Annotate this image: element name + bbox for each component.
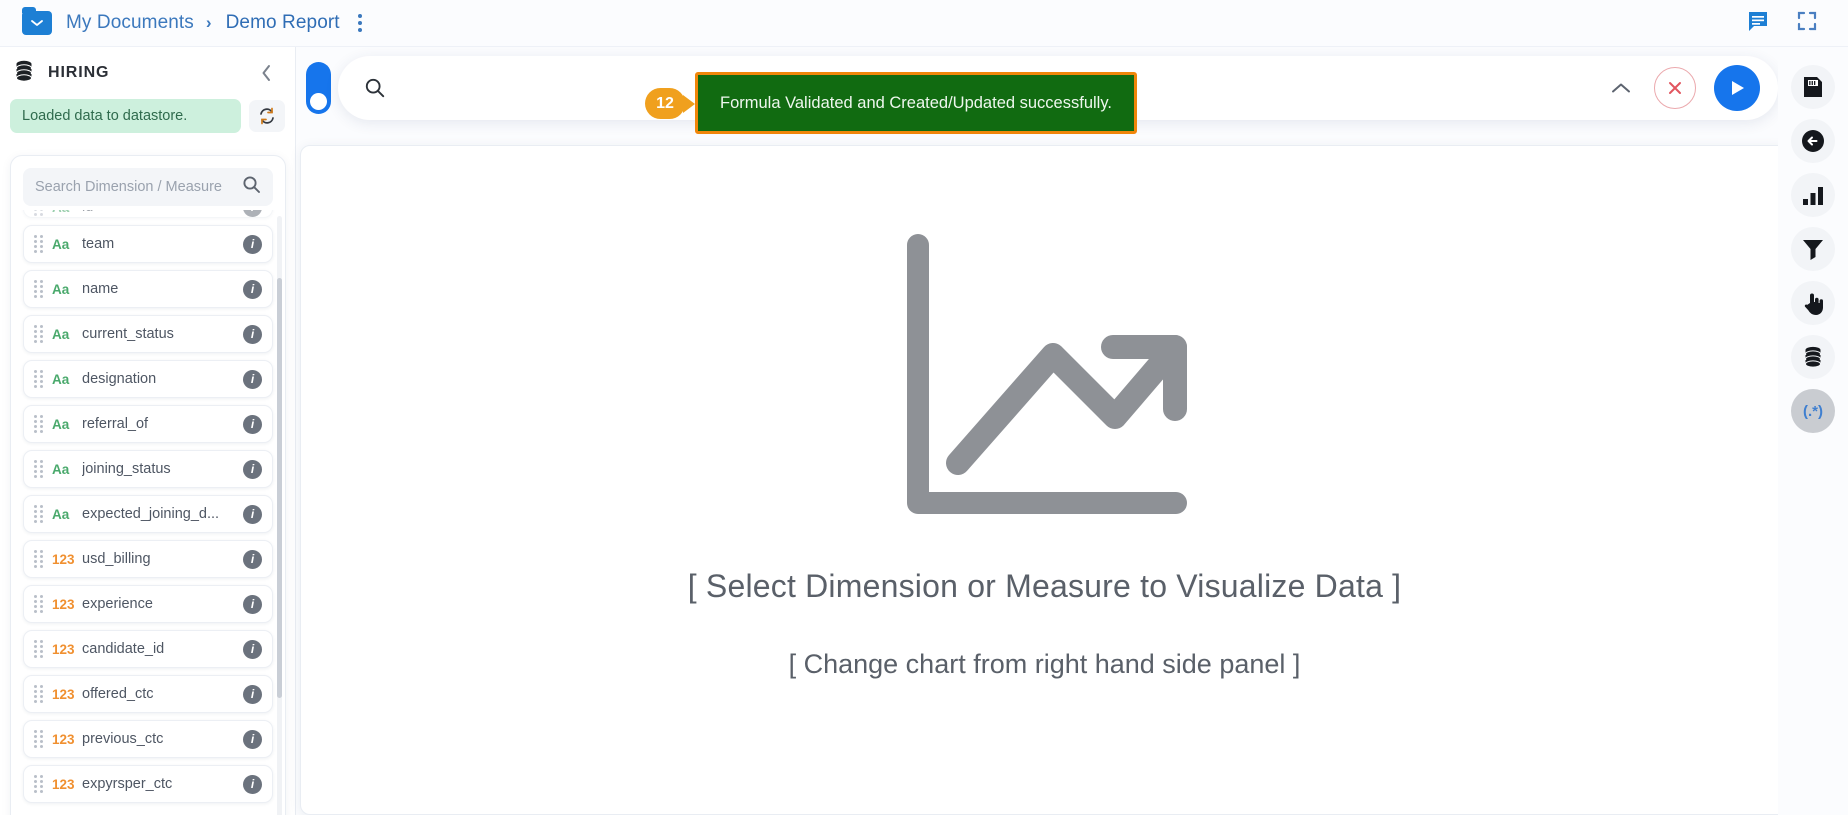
toast-notification: Formula Validated and Created/Updated su… xyxy=(695,72,1137,134)
datastore-status-text: Loaded data to datastore. xyxy=(10,99,241,133)
field-type-badge: 123 xyxy=(52,642,82,657)
field-item-designation[interactable]: Aadesignationi xyxy=(23,360,273,398)
regex-icon[interactable]: (.*) xyxy=(1791,389,1835,433)
datastore-title: HIRING xyxy=(48,64,109,82)
cancel-button[interactable] xyxy=(1654,67,1696,109)
top-header: My Documents › Demo Report xyxy=(0,0,1848,47)
drag-handle-icon[interactable] xyxy=(34,550,43,568)
empty-state-subtitle: [ Change chart from right hand side pane… xyxy=(789,649,1301,680)
info-icon[interactable]: i xyxy=(243,280,262,299)
field-label: previous_ctc xyxy=(82,731,243,747)
more-options-icon[interactable] xyxy=(352,10,368,36)
field-label: offered_ctc xyxy=(82,686,243,702)
info-icon[interactable]: i xyxy=(243,595,262,614)
field-label: designation xyxy=(82,371,243,387)
field-item-current_status[interactable]: Aacurrent_statusi xyxy=(23,315,273,353)
refresh-icon[interactable] xyxy=(249,100,285,132)
field-search-wrapper xyxy=(23,168,273,206)
field-type-badge: 123 xyxy=(52,552,82,567)
info-icon[interactable]: i xyxy=(243,550,262,569)
field-label: current_status xyxy=(82,326,243,342)
field-item-offered_ctc[interactable]: 123offered_ctci xyxy=(23,675,273,713)
filter-icon[interactable] xyxy=(1791,227,1835,271)
pointer-hand-icon[interactable] xyxy=(1791,281,1835,325)
datastore-header: HIRING xyxy=(0,47,295,99)
search-input[interactable] xyxy=(35,179,242,195)
field-type-badge: Aa xyxy=(52,372,82,387)
back-arrow-icon[interactable] xyxy=(1791,119,1835,163)
field-item-id[interactable]: Aaidi xyxy=(23,210,273,218)
folder-chevron-icon[interactable] xyxy=(22,11,52,35)
datastore-status-row: Loaded data to datastore. xyxy=(0,99,295,133)
visualization-canvas[interactable]: [ Select Dimension or Measure to Visuali… xyxy=(300,145,1789,815)
database-icon[interactable] xyxy=(1791,335,1835,379)
sidebar-collapse-button[interactable] xyxy=(252,59,281,87)
header-actions xyxy=(1746,9,1818,38)
comment-icon[interactable] xyxy=(1746,9,1770,38)
info-icon[interactable]: i xyxy=(243,460,262,479)
toast-message: Formula Validated and Created/Updated su… xyxy=(720,94,1112,113)
search-icon[interactable] xyxy=(242,175,261,199)
info-icon[interactable]: i xyxy=(243,685,262,704)
field-label: id xyxy=(82,210,243,215)
field-label: joining_status xyxy=(82,461,243,477)
field-list[interactable]: AaidiAateamiAanameiAacurrent_statusiAade… xyxy=(11,210,285,815)
field-type-badge: Aa xyxy=(52,282,82,297)
line-chart-icon xyxy=(900,231,1190,526)
bar-chart-icon[interactable] xyxy=(1791,173,1835,217)
drag-handle-icon[interactable] xyxy=(34,505,43,523)
drag-handle-icon[interactable] xyxy=(34,210,43,216)
field-label: team xyxy=(82,236,243,252)
empty-state-title: [ Select Dimension or Measure to Visuali… xyxy=(688,568,1402,605)
field-panel: AaidiAateamiAanameiAacurrent_statusiAade… xyxy=(10,155,286,815)
field-type-badge: 123 xyxy=(52,597,82,612)
breadcrumb-current[interactable]: Demo Report xyxy=(226,12,340,34)
field-type-badge: Aa xyxy=(52,237,82,252)
field-item-name[interactable]: Aanamei xyxy=(23,270,273,308)
field-type-badge: 123 xyxy=(52,732,82,747)
annotation-step-badge: 12 xyxy=(645,88,685,119)
chevron-up-icon[interactable] xyxy=(1600,75,1642,101)
field-type-badge: Aa xyxy=(52,210,82,215)
field-item-joining_status[interactable]: Aajoining_statusi xyxy=(23,450,273,488)
database-icon xyxy=(14,60,34,87)
field-item-previous_ctc[interactable]: 123previous_ctci xyxy=(23,720,273,758)
info-icon[interactable]: i xyxy=(243,415,262,434)
field-type-badge: Aa xyxy=(52,327,82,342)
field-label: referral_of xyxy=(82,416,243,432)
drag-handle-icon[interactable] xyxy=(34,775,43,793)
info-icon[interactable]: i xyxy=(243,370,262,389)
regex-label: (.*) xyxy=(1803,403,1823,420)
field-item-expected_joining_d[interactable]: Aaexpected_joining_d...i xyxy=(23,495,273,533)
info-icon[interactable]: i xyxy=(243,730,262,749)
fullscreen-icon[interactable] xyxy=(1796,10,1818,37)
right-toolbar: (.*) xyxy=(1778,47,1848,815)
field-type-badge: Aa xyxy=(52,462,82,477)
field-type-badge: 123 xyxy=(52,777,82,792)
field-item-team[interactable]: Aateami xyxy=(23,225,273,263)
formula-search-icon[interactable] xyxy=(364,77,386,99)
info-icon[interactable]: i xyxy=(243,235,262,254)
drag-handle-icon[interactable] xyxy=(34,730,43,748)
run-button[interactable] xyxy=(1714,65,1760,111)
field-label: name xyxy=(82,281,243,297)
drag-handle-icon[interactable] xyxy=(34,460,43,478)
info-icon[interactable]: i xyxy=(243,505,262,524)
field-label: expyrsper_ctc xyxy=(82,776,243,792)
drag-handle-icon[interactable] xyxy=(34,685,43,703)
drag-handle-icon[interactable] xyxy=(34,370,43,388)
field-label: usd_billing xyxy=(82,551,243,567)
field-item-expyrsper_ctc[interactable]: 123expyrsper_ctci xyxy=(23,765,273,803)
info-icon[interactable]: i xyxy=(243,640,262,659)
field-label: candidate_id xyxy=(82,641,243,657)
drag-handle-icon[interactable] xyxy=(34,595,43,613)
save-card-icon[interactable] xyxy=(1791,65,1835,109)
field-type-badge: 123 xyxy=(52,687,82,702)
formula-mode-toggle[interactable] xyxy=(306,62,331,114)
breadcrumb-separator: › xyxy=(206,13,212,33)
field-list-scrollbar-thumb[interactable] xyxy=(277,278,282,698)
breadcrumb-root[interactable]: My Documents xyxy=(66,12,194,34)
field-item-experience[interactable]: 123experiencei xyxy=(23,585,273,623)
field-label: experience xyxy=(82,596,243,612)
info-icon[interactable]: i xyxy=(243,210,262,217)
info-icon[interactable]: i xyxy=(243,775,262,794)
info-icon[interactable]: i xyxy=(243,325,262,344)
field-item-referral_of[interactable]: Aareferral_ofi xyxy=(23,405,273,443)
drag-handle-icon[interactable] xyxy=(34,640,43,658)
field-label: expected_joining_d... xyxy=(82,506,243,522)
field-type-badge: Aa xyxy=(52,507,82,522)
field-type-badge: Aa xyxy=(52,417,82,432)
drag-handle-icon[interactable] xyxy=(34,235,43,253)
drag-handle-icon[interactable] xyxy=(34,325,43,343)
drag-handle-icon[interactable] xyxy=(34,415,43,433)
field-item-candidate_id[interactable]: 123candidate_idi xyxy=(23,630,273,668)
app-root: My Documents › Demo Report xyxy=(0,0,1848,815)
drag-handle-icon[interactable] xyxy=(34,280,43,298)
toggle-knob xyxy=(310,93,327,110)
field-item-usd_billing[interactable]: 123usd_billingi xyxy=(23,540,273,578)
left-sidebar: HIRING Loaded data to datastore. xyxy=(0,47,296,815)
